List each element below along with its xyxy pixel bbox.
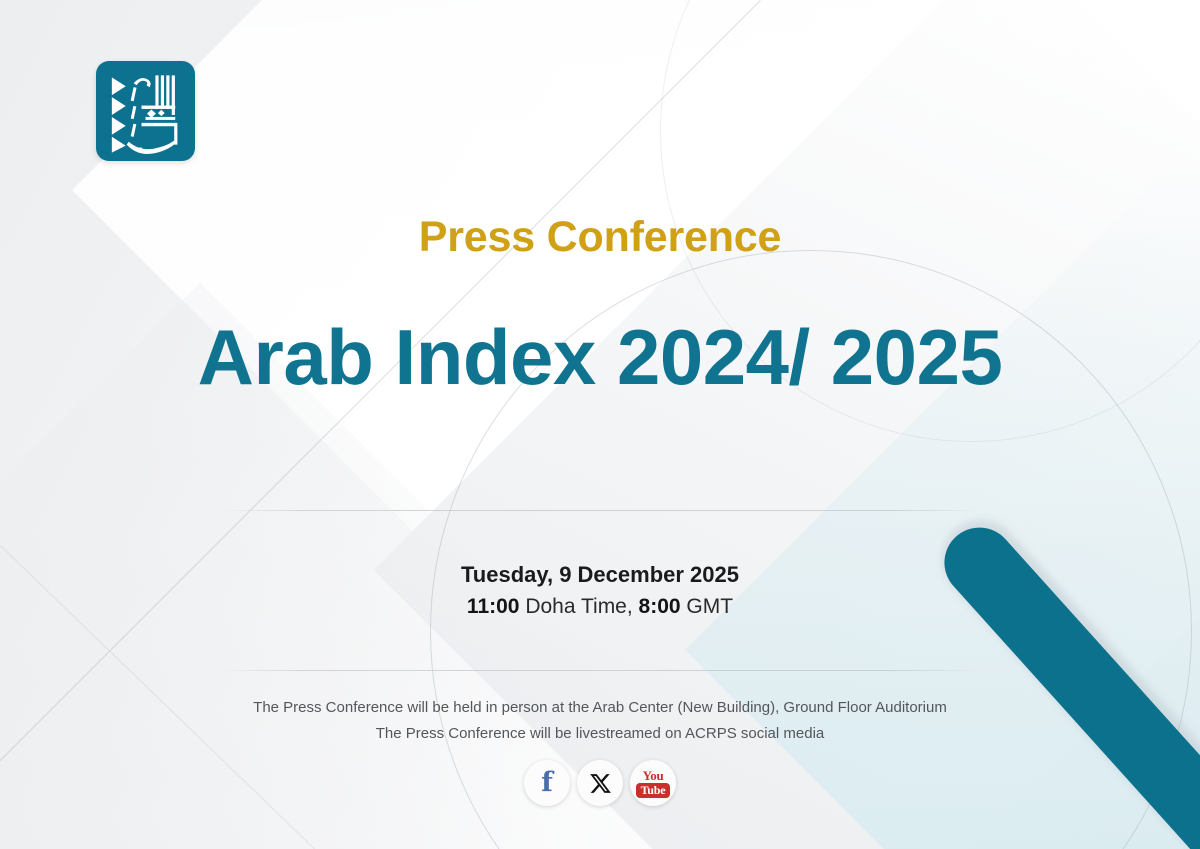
- event-time-doha-label: Doha Time,: [519, 595, 638, 618]
- event-time-doha: 11:00: [467, 595, 520, 618]
- event-time-gmt: 8:00: [639, 595, 681, 618]
- livestream-note: The Press Conference will be livestreame…: [0, 725, 1200, 742]
- page-title: Arab Index 2024/ 2025: [0, 312, 1200, 403]
- divider-top: [218, 510, 982, 511]
- youtube-you-text: You: [643, 769, 664, 782]
- facebook-link[interactable]: f: [524, 760, 570, 806]
- x-twitter-icon: [589, 772, 612, 795]
- divider-bottom: [218, 670, 982, 671]
- event-date: Tuesday, 9 December 2025: [0, 562, 1200, 588]
- event-time: 11:00 Doha Time, 8:00 GMT: [0, 595, 1200, 619]
- venue-note: The Press Conference will be held in per…: [0, 699, 1200, 716]
- youtube-tube-text: Tube: [636, 783, 671, 798]
- event-time-gmt-label: GMT: [681, 595, 734, 618]
- facebook-icon: f: [541, 769, 553, 796]
- acrps-logo: [96, 61, 195, 161]
- youtube-link[interactable]: You Tube: [630, 760, 676, 806]
- page-kicker: Press Conference: [0, 213, 1200, 262]
- social-links: f You Tube: [0, 760, 1200, 806]
- youtube-icon: You Tube: [636, 769, 671, 798]
- press-conference-poster: Press Conference Arab Index 2024/ 2025 T…: [0, 0, 1200, 849]
- x-twitter-link[interactable]: [577, 760, 623, 806]
